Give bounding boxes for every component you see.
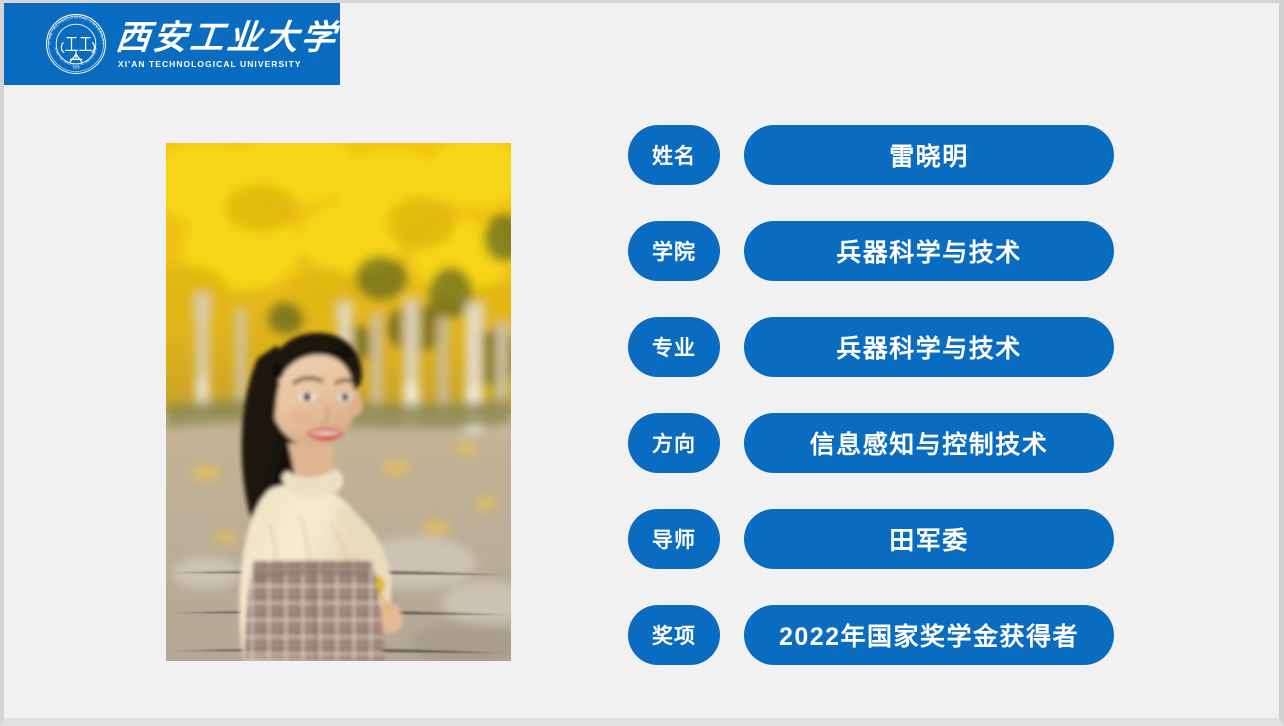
info-row-award: 奖项 2022年国家奖学金获得者 (628, 605, 1114, 665)
info-label-major: 专业 (628, 317, 720, 377)
info-value-direction: 信息感知与控制技术 (744, 413, 1114, 473)
info-row-direction: 方向 信息感知与控制技术 (628, 413, 1114, 473)
info-label-advisor: 导师 (628, 509, 720, 569)
university-name-en: XI'AN TECHNOLOGICAL UNIVERSITY (116, 59, 338, 69)
student-info-list: 姓名 雷晓明 学院 兵器科学与技术 专业 兵器科学与技术 方向 信息感知与控制技… (628, 125, 1114, 665)
student-portrait-photo: 学生照片：秋天银杏树下的女学生 (166, 143, 511, 661)
info-row-advisor: 导师 田军委 (628, 509, 1114, 569)
university-header-band: XI'AN TECHNOLOGICAL UNIVERSITY XI'AN TEC… (4, 3, 340, 85)
university-wordmark: 西安工业大学 XI'AN TECHNOLOGICAL UNIVERSITY (116, 19, 338, 70)
info-row-major: 专业 兵器科学与技术 (628, 317, 1114, 377)
info-value-award: 2022年国家奖学金获得者 (744, 605, 1114, 665)
info-row-name: 姓名 雷晓明 (628, 125, 1114, 185)
info-value-major: 兵器科学与技术 (744, 317, 1114, 377)
info-row-college: 学院 兵器科学与技术 (628, 221, 1114, 281)
svg-text:XI'AN TECHNOLOGICAL UNIVERSITY: XI'AN TECHNOLOGICAL UNIVERSITY (46, 14, 105, 45)
info-label-college: 学院 (628, 221, 720, 281)
slide-canvas: XI'AN TECHNOLOGICAL UNIVERSITY XI'AN TEC… (0, 0, 1284, 726)
info-value-advisor: 田军委 (744, 509, 1114, 569)
svg-text:1955: 1955 (72, 65, 79, 69)
info-label-direction: 方向 (628, 413, 720, 473)
info-label-award: 奖项 (628, 605, 720, 665)
university-name-cn: 西安工业大学 (114, 21, 340, 57)
info-label-name: 姓名 (628, 125, 720, 185)
info-value-college: 兵器科学与技术 (744, 221, 1114, 281)
info-value-name: 雷晓明 (744, 125, 1114, 185)
university-seal-emblem: XI'AN TECHNOLOGICAL UNIVERSITY XI'AN TEC… (44, 12, 108, 76)
